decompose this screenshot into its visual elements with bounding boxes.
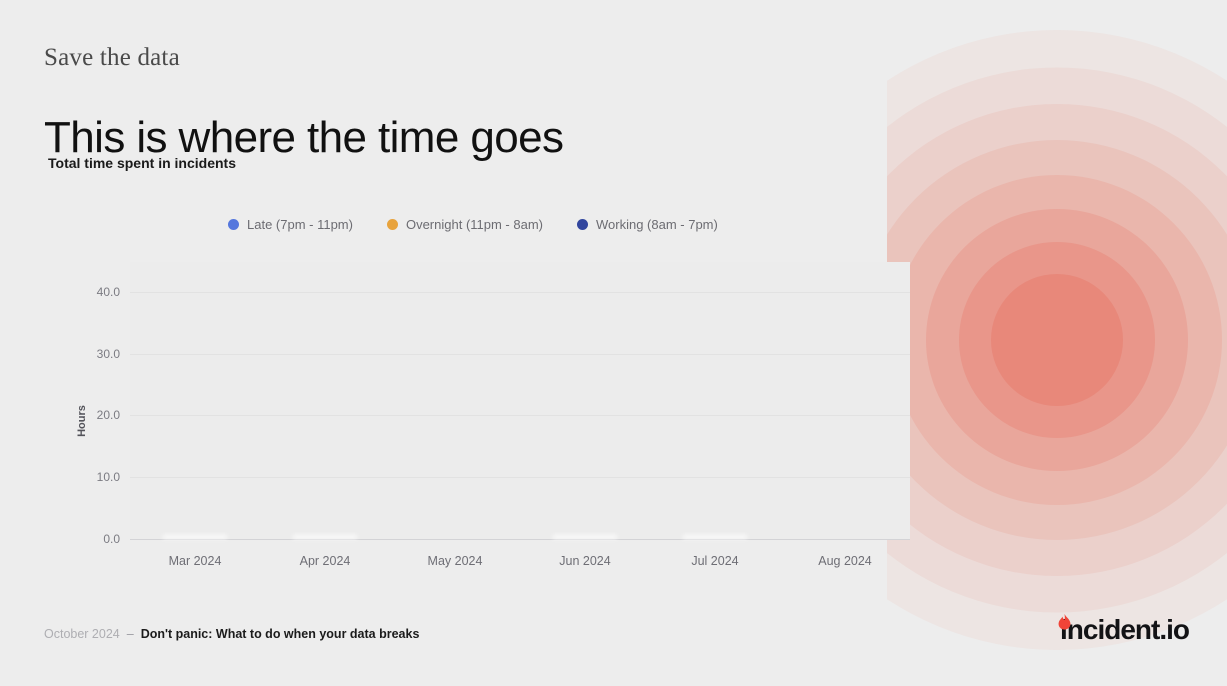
- flame-icon: [1058, 614, 1071, 632]
- y-axis-title: Hours: [76, 405, 88, 437]
- y-axis-tick: 20.0: [97, 408, 120, 422]
- x-axis-tick: May 2024: [428, 554, 483, 568]
- legend-label-overnight: Overnight (11pm - 8am): [406, 217, 543, 232]
- bar-jul-2024[interactable]: [685, 537, 745, 540]
- legend-item-working[interactable]: Working (8am - 7pm): [577, 217, 718, 232]
- x-axis-tick: Mar 2024: [169, 554, 222, 568]
- y-axis-tick: 0.0: [103, 532, 120, 546]
- bar-chart: Hours 0.010.020.030.040.0 Mar 2024Apr 20…: [62, 262, 914, 580]
- y-axis-tick: 40.0: [97, 285, 120, 299]
- bar-apr-2024[interactable]: [295, 537, 355, 540]
- x-axis-tick: Aug 2024: [818, 554, 872, 568]
- brand-logo: incident.io: [1058, 614, 1189, 646]
- logo-text: incident.io: [1060, 614, 1189, 646]
- legend-item-overnight[interactable]: Overnight (11pm - 8am): [387, 217, 543, 232]
- bar-jun-2024[interactable]: [555, 537, 615, 540]
- bar-slot: Mar 2024: [130, 262, 260, 540]
- bar-mar-2024[interactable]: [165, 537, 225, 540]
- chart-legend: Late (7pm - 11pm) Overnight (11pm - 8am)…: [228, 217, 718, 232]
- bar-slot: Jul 2024: [650, 262, 780, 540]
- footer: October 2024 – Don't panic: What to do w…: [44, 627, 419, 641]
- legend-label-late: Late (7pm - 11pm): [247, 217, 353, 232]
- legend-dot-late: [228, 219, 239, 230]
- x-axis-tick: Jul 2024: [691, 554, 738, 568]
- slide-eyebrow: Save the data: [44, 44, 180, 72]
- footer-dash: –: [127, 627, 134, 641]
- y-axis-tick: 30.0: [97, 347, 120, 361]
- legend-dot-overnight: [387, 219, 398, 230]
- legend-label-working: Working (8am - 7pm): [596, 217, 718, 232]
- bar-slot: Aug 2024: [780, 262, 910, 540]
- bar-slot: Jun 2024: [520, 262, 650, 540]
- x-axis-tick: Jun 2024: [559, 554, 610, 568]
- plot-area: 0.010.020.030.040.0 Mar 2024Apr 2024May …: [130, 262, 910, 540]
- slide: Save the data This is where the time goe…: [0, 0, 1227, 686]
- x-axis-tick: Apr 2024: [300, 554, 351, 568]
- y-axis-tick: 10.0: [97, 470, 120, 484]
- bar-group: Mar 2024Apr 2024May 2024Jun 2024Jul 2024…: [130, 262, 910, 540]
- bar-slot: May 2024: [390, 262, 520, 540]
- chart-subtitle: Total time spent in incidents: [48, 155, 236, 171]
- footer-date: October 2024: [44, 627, 120, 641]
- legend-item-late[interactable]: Late (7pm - 11pm): [228, 217, 353, 232]
- footer-title: Don't panic: What to do when your data b…: [141, 627, 420, 641]
- legend-dot-working: [577, 219, 588, 230]
- bar-slot: Apr 2024: [260, 262, 390, 540]
